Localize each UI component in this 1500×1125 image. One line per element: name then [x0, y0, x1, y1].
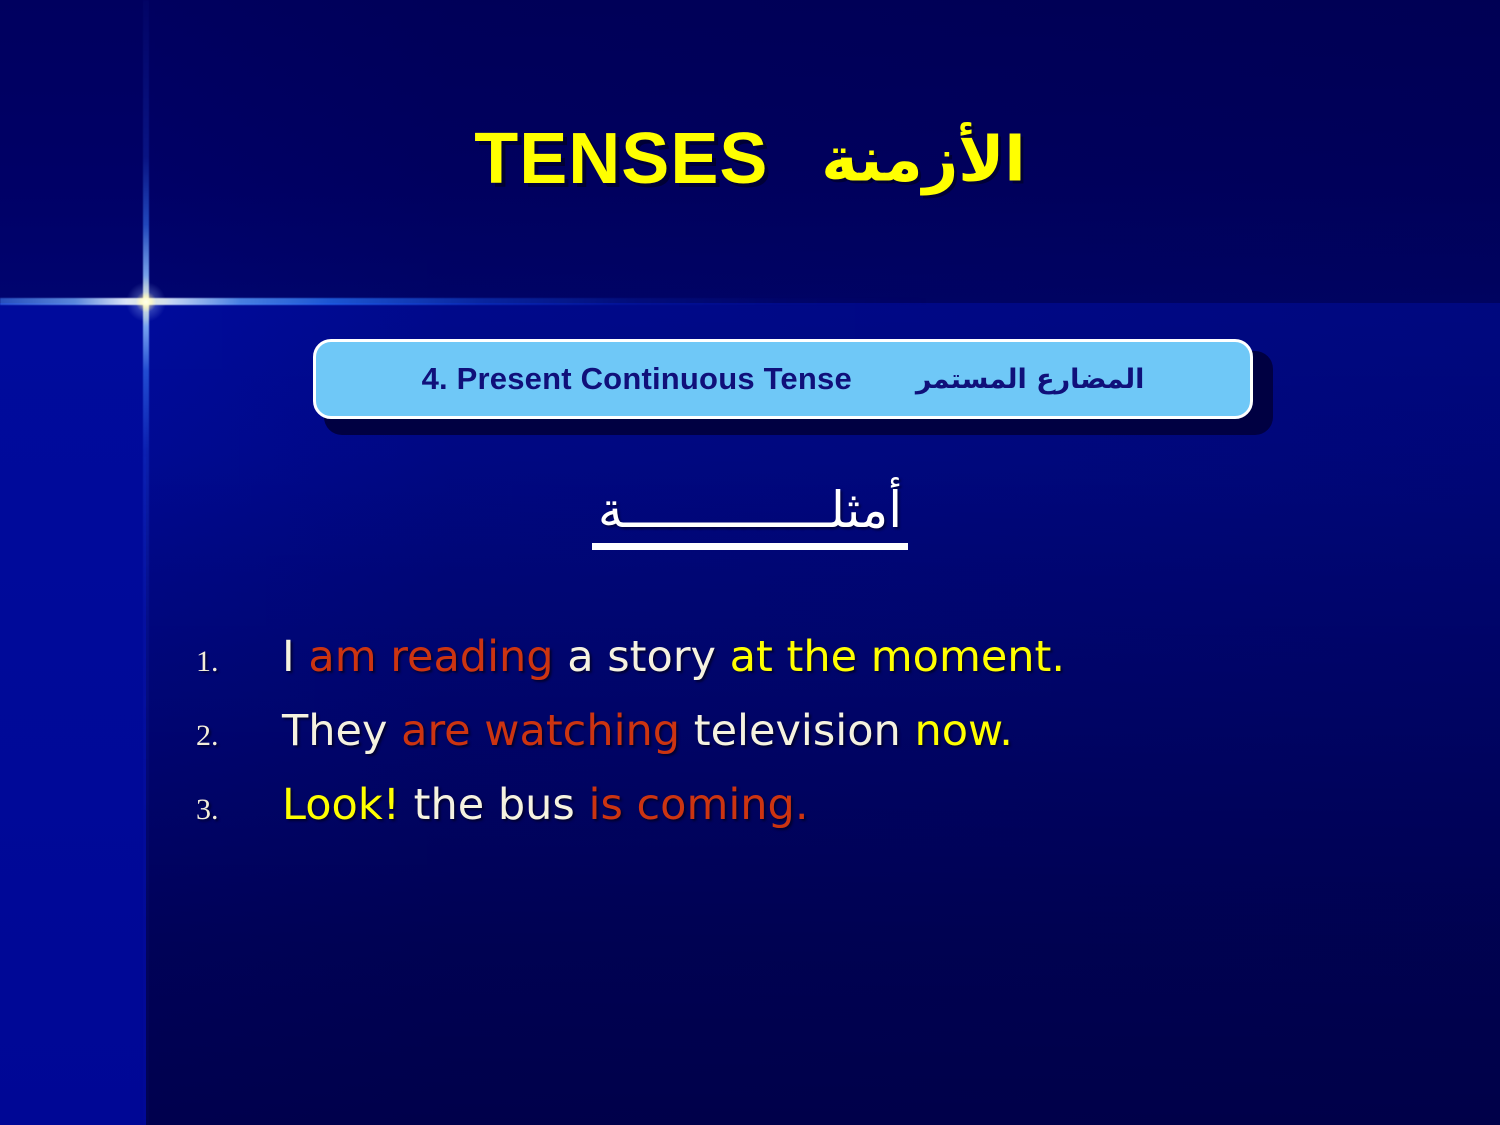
- examples-heading-arabic: أمثلــــــــــــــة: [592, 484, 908, 550]
- list-item-number: 2.: [196, 719, 282, 753]
- sentence-part: I: [282, 632, 308, 682]
- presentation-slide: TENSES الأزمنة 4. Present Continuous Ten…: [0, 0, 1500, 1125]
- list-item-sentence: They are watching television now.: [282, 706, 1013, 756]
- slide-title: TENSES الأزمنة: [0, 118, 1500, 200]
- list-item: 3. Look! the bus is coming.: [196, 780, 1396, 854]
- starburst-core-icon: [126, 282, 166, 322]
- list-item: 2. They are watching television now.: [196, 706, 1396, 780]
- section-banner-box: 4. Present Continuous Tense المضارع المس…: [313, 339, 1253, 419]
- list-item: 1. I am reading a story at the moment.: [196, 632, 1396, 706]
- section-banner-arabic: المضارع المستمر: [916, 364, 1145, 395]
- starburst-horizontal-beam-icon: [0, 298, 1500, 305]
- slide-title-english: TENSES: [474, 119, 768, 199]
- list-item-number: 3.: [196, 793, 282, 827]
- sentence-part: the bus: [400, 780, 589, 830]
- list-item-number: 1.: [196, 645, 282, 679]
- slide-title-arabic: الأزمنة: [821, 123, 1025, 196]
- sentence-part: is coming.: [589, 780, 809, 830]
- sentence-part: Look!: [282, 780, 400, 830]
- section-banner-english: 4. Present Continuous Tense: [422, 361, 852, 397]
- examples-list: 1. I am reading a story at the moment. 2…: [196, 632, 1396, 854]
- list-item-sentence: I am reading a story at the moment.: [282, 632, 1065, 682]
- examples-heading: أمثلــــــــــــــة: [0, 484, 1500, 550]
- section-banner: 4. Present Continuous Tense المضارع المس…: [313, 339, 1273, 435]
- sentence-part: are watching: [401, 706, 680, 756]
- sentence-part: a story: [554, 632, 730, 682]
- sentence-part: at the moment.: [730, 632, 1065, 682]
- sentence-part: television: [680, 706, 914, 756]
- list-item-sentence: Look! the bus is coming.: [282, 780, 809, 830]
- sentence-part: now.: [914, 706, 1012, 756]
- sentence-part: am reading: [308, 632, 553, 682]
- sentence-part: They: [282, 706, 401, 756]
